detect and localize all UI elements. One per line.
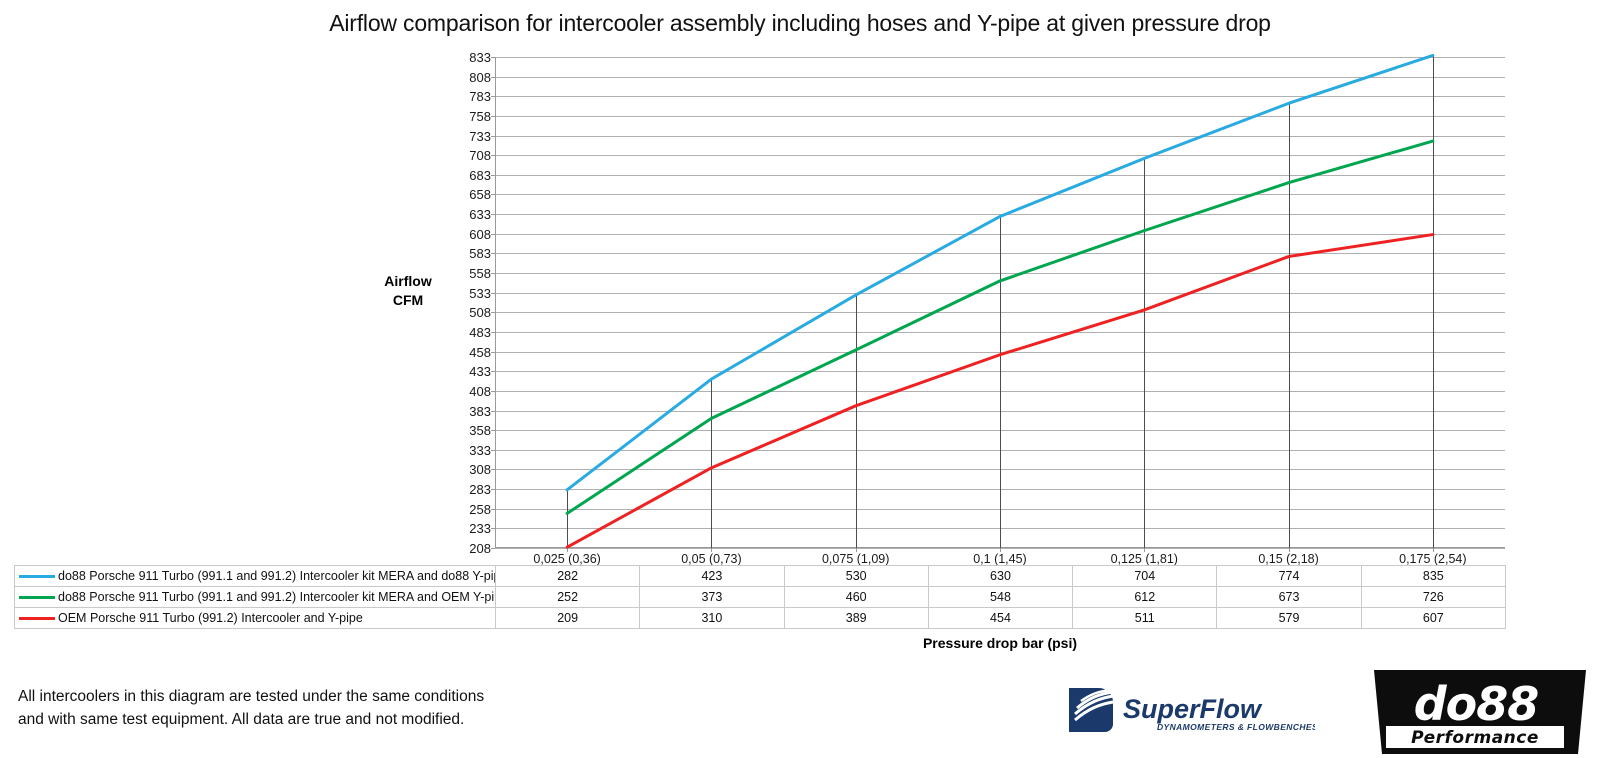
- y-tick-label: 583: [447, 247, 491, 260]
- data-value-cell: 673: [1217, 587, 1361, 608]
- data-value-cell: 726: [1361, 587, 1505, 608]
- do88-tagline: Performance: [1411, 728, 1539, 748]
- y-tick-label: 683: [447, 169, 491, 182]
- legend-color-swatch: [19, 596, 55, 599]
- table-row: do88 Porsche 911 Turbo (991.1 and 991.2)…: [15, 587, 1506, 608]
- do88-wordmark: do88: [1414, 677, 1539, 731]
- data-value-cell: 612: [1073, 587, 1217, 608]
- chart-page: { "title": "Airflow comparison for inter…: [0, 0, 1600, 758]
- y-tick-label: 658: [447, 188, 491, 201]
- y-tick-label: 258: [447, 503, 491, 516]
- y-tick-label: 533: [447, 287, 491, 300]
- y-tick-label: 833: [447, 51, 491, 64]
- data-value-cell: 389: [784, 608, 928, 629]
- footer-note: All intercoolers in this diagram are tes…: [18, 685, 484, 731]
- y-axis-title: Airflow CFM: [358, 272, 458, 310]
- legend-series-label: OEM Porsche 911 Turbo (991.2) Intercoole…: [58, 611, 363, 625]
- table-row: OEM Porsche 911 Turbo (991.2) Intercoole…: [15, 608, 1506, 629]
- y-tick-label: 558: [447, 267, 491, 280]
- chart-title: Airflow comparison for intercooler assem…: [0, 10, 1600, 37]
- y-tick-label: 733: [447, 130, 491, 143]
- legend-cell[interactable]: OEM Porsche 911 Turbo (991.2) Intercoole…: [15, 608, 496, 629]
- y-tick-label: 233: [447, 522, 491, 535]
- data-value-cell: 209: [496, 608, 640, 629]
- y-tick-mark: [491, 548, 495, 549]
- y-tick-label: 308: [447, 463, 491, 476]
- legend-cell[interactable]: do88 Porsche 911 Turbo (991.1 and 991.2)…: [15, 566, 496, 587]
- data-value-cell: 530: [784, 566, 928, 587]
- y-axis-title-line1: Airflow: [358, 272, 458, 291]
- y-tick-label: 508: [447, 306, 491, 319]
- data-value-cell: 548: [928, 587, 1072, 608]
- plot-area: [495, 57, 1505, 548]
- y-tick-label: 433: [447, 365, 491, 378]
- do88-logo: do88 Performance: [1370, 668, 1590, 756]
- legend-series-label: do88 Porsche 911 Turbo (991.1 and 991.2)…: [58, 569, 496, 583]
- legend-series-label: do88 Porsche 911 Turbo (991.1 and 991.2)…: [58, 590, 496, 604]
- y-tick-label: 208: [447, 542, 491, 555]
- legend-cell[interactable]: do88 Porsche 911 Turbo (991.1 and 991.2)…: [15, 587, 496, 608]
- y-tick-label: 458: [447, 346, 491, 359]
- y-tick-label: 758: [447, 110, 491, 123]
- superflow-wordmark: SuperFlow: [1123, 694, 1263, 724]
- table-row: do88 Porsche 911 Turbo (991.1 and 991.2)…: [15, 566, 1506, 587]
- data-value-cell: 704: [1073, 566, 1217, 587]
- legend-data-table: do88 Porsche 911 Turbo (991.1 and 991.2)…: [14, 565, 1506, 629]
- data-value-cell: 511: [1073, 608, 1217, 629]
- superflow-tagline: DYNAMOMETERS & FLOWBENCHES: [1157, 722, 1315, 732]
- logo-bar: SuperFlow DYNAMOMETERS & FLOWBENCHES do8…: [1050, 668, 1590, 758]
- series-line-1: [567, 55, 1433, 489]
- series-line-2: [567, 141, 1433, 513]
- data-value-cell: 460: [784, 587, 928, 608]
- x-axis-title: Pressure drop bar (psi): [495, 635, 1505, 651]
- y-axis-title-line2: CFM: [358, 291, 458, 310]
- y-tick-label: 708: [447, 149, 491, 162]
- y-tick-label: 608: [447, 228, 491, 241]
- data-value-cell: 835: [1361, 566, 1505, 587]
- legend-color-swatch: [19, 617, 55, 620]
- y-tick-label: 633: [447, 208, 491, 221]
- y-tick-label: 283: [447, 483, 491, 496]
- legend-color-swatch: [19, 575, 55, 578]
- data-value-cell: 630: [928, 566, 1072, 587]
- data-value-cell: 579: [1217, 608, 1361, 629]
- data-value-cell: 607: [1361, 608, 1505, 629]
- y-axis-tick-labels: 8338087837587337086836586336085835585335…: [447, 57, 491, 548]
- y-tick-label: 358: [447, 424, 491, 437]
- data-value-cell: 774: [1217, 566, 1361, 587]
- data-value-cell: 282: [496, 566, 640, 587]
- y-tick-label: 783: [447, 90, 491, 103]
- data-value-cell: 423: [640, 566, 784, 587]
- superflow-logo: SuperFlow DYNAMOMETERS & FLOWBENCHES: [1065, 680, 1315, 735]
- y-tick-label: 333: [447, 444, 491, 457]
- data-value-cell: 310: [640, 608, 784, 629]
- y-tick-label: 408: [447, 385, 491, 398]
- y-tick-label: 383: [447, 405, 491, 418]
- data-value-cell: 454: [928, 608, 1072, 629]
- series-lines: [495, 57, 1505, 548]
- y-tick-label: 808: [447, 71, 491, 84]
- data-value-cell: 373: [640, 587, 784, 608]
- y-tick-label: 483: [447, 326, 491, 339]
- data-value-cell: 252: [496, 587, 640, 608]
